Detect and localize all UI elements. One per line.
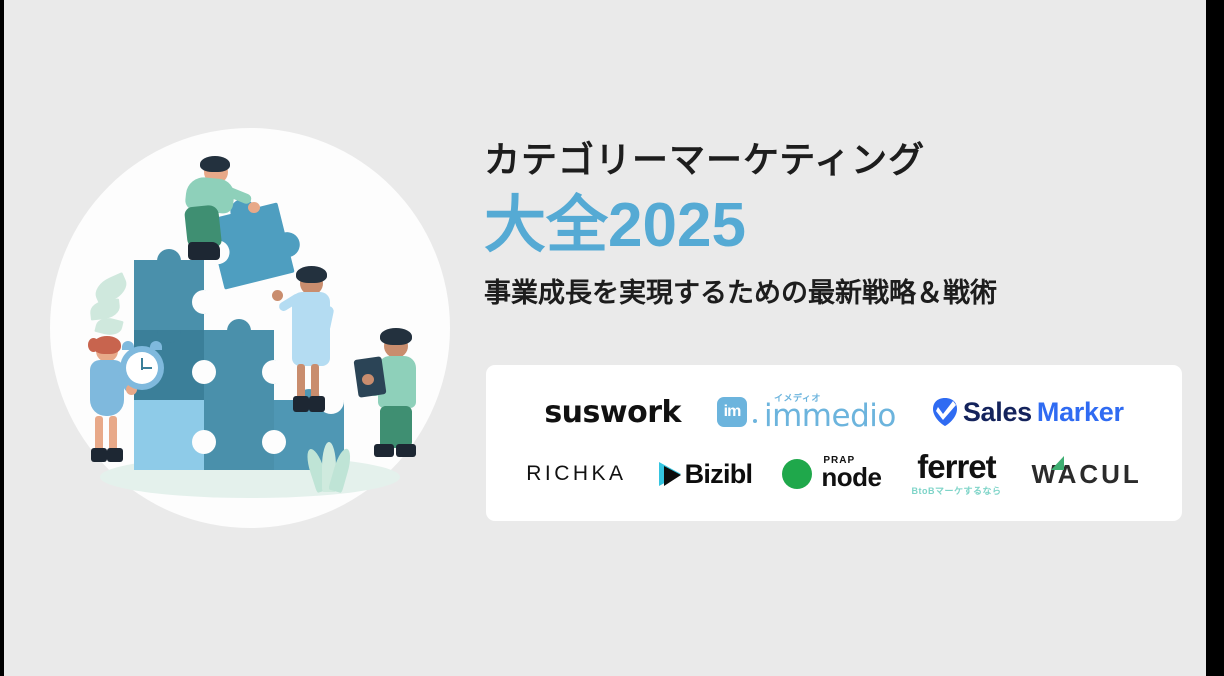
person-placing-piece xyxy=(172,156,258,266)
sales-marker-pin-icon xyxy=(932,397,958,427)
logo-richka[interactable]: RICHKA xyxy=(526,462,626,486)
sales-marker-text-a: Sales xyxy=(963,397,1032,428)
hero-text-block: カテゴリーマーケティング 大全2025 事業成長を実現するための最新戦略＆戦術 xyxy=(484,140,1184,309)
logo-richka-text: RICHKA xyxy=(526,462,626,486)
puzzle-notch xyxy=(192,290,216,314)
prap-node-dot-icon xyxy=(782,459,812,489)
logo-wacul-text: WACUL xyxy=(1031,459,1141,490)
wacul-triangle-icon xyxy=(1051,456,1064,470)
logo-ferret-tagline: BtoBマーケするなら xyxy=(911,484,1001,497)
prap-node-word-text: node xyxy=(821,462,881,492)
immedio-dot-icon xyxy=(753,419,757,423)
sales-marker-text-b: Marker xyxy=(1037,397,1124,428)
bizibl-play-icon xyxy=(657,460,683,488)
logo-ferret[interactable]: ferret BtoBマーケするなら xyxy=(911,451,1001,497)
prap-node-wordmark: PRAP node xyxy=(821,457,881,491)
person-with-clock xyxy=(82,340,152,480)
prap-node-small-text: PRAP xyxy=(823,455,855,466)
logo-bizibl-text: Bizibl xyxy=(685,459,753,490)
logo-sales-marker[interactable]: Sales Marker xyxy=(932,397,1124,428)
sponsor-logo-card: suswork im イメディオ immedio xyxy=(486,365,1182,521)
puzzle-notch xyxy=(192,430,216,454)
person-with-clipboard xyxy=(360,330,432,480)
logo-bizibl[interactable]: Bizibl xyxy=(657,459,753,490)
teamwork-puzzle-illustration xyxy=(22,118,462,538)
page-title-line1: カテゴリーマーケティング xyxy=(484,140,1184,180)
logo-row-1: suswork im イメディオ immedio xyxy=(486,381,1182,443)
page-canvas: カテゴリーマーケティング 大全2025 事業成長を実現するための最新戦略＆戦術 … xyxy=(4,0,1206,676)
logo-prap-node[interactable]: PRAP node xyxy=(782,457,881,491)
logo-suswork[interactable]: suswork xyxy=(544,395,681,430)
logo-suswork-text: suswork xyxy=(544,395,681,430)
person-receiving-piece xyxy=(280,266,346,431)
puzzle-notch xyxy=(262,430,286,454)
page-title-line2: 大全2025 xyxy=(484,190,1184,261)
screenshot-frame: カテゴリーマーケティング 大全2025 事業成長を実現するための最新戦略＆戦術 … xyxy=(0,0,1224,676)
logo-wacul[interactable]: WACUL xyxy=(1031,459,1141,490)
immedio-wordmark: イメディオ immedio xyxy=(764,394,896,431)
page-subtitle: 事業成長を実現するための最新戦略＆戦術 xyxy=(484,277,1184,309)
logo-immedio[interactable]: im イメディオ immedio xyxy=(717,394,896,431)
logo-row-2: RICHKA Bizibl PRAP node xyxy=(486,443,1182,505)
immedio-icon: im xyxy=(717,397,747,427)
puzzle-notch xyxy=(192,360,216,384)
immedio-kana-text: イメディオ xyxy=(774,391,821,404)
logo-ferret-text: ferret xyxy=(917,451,995,482)
